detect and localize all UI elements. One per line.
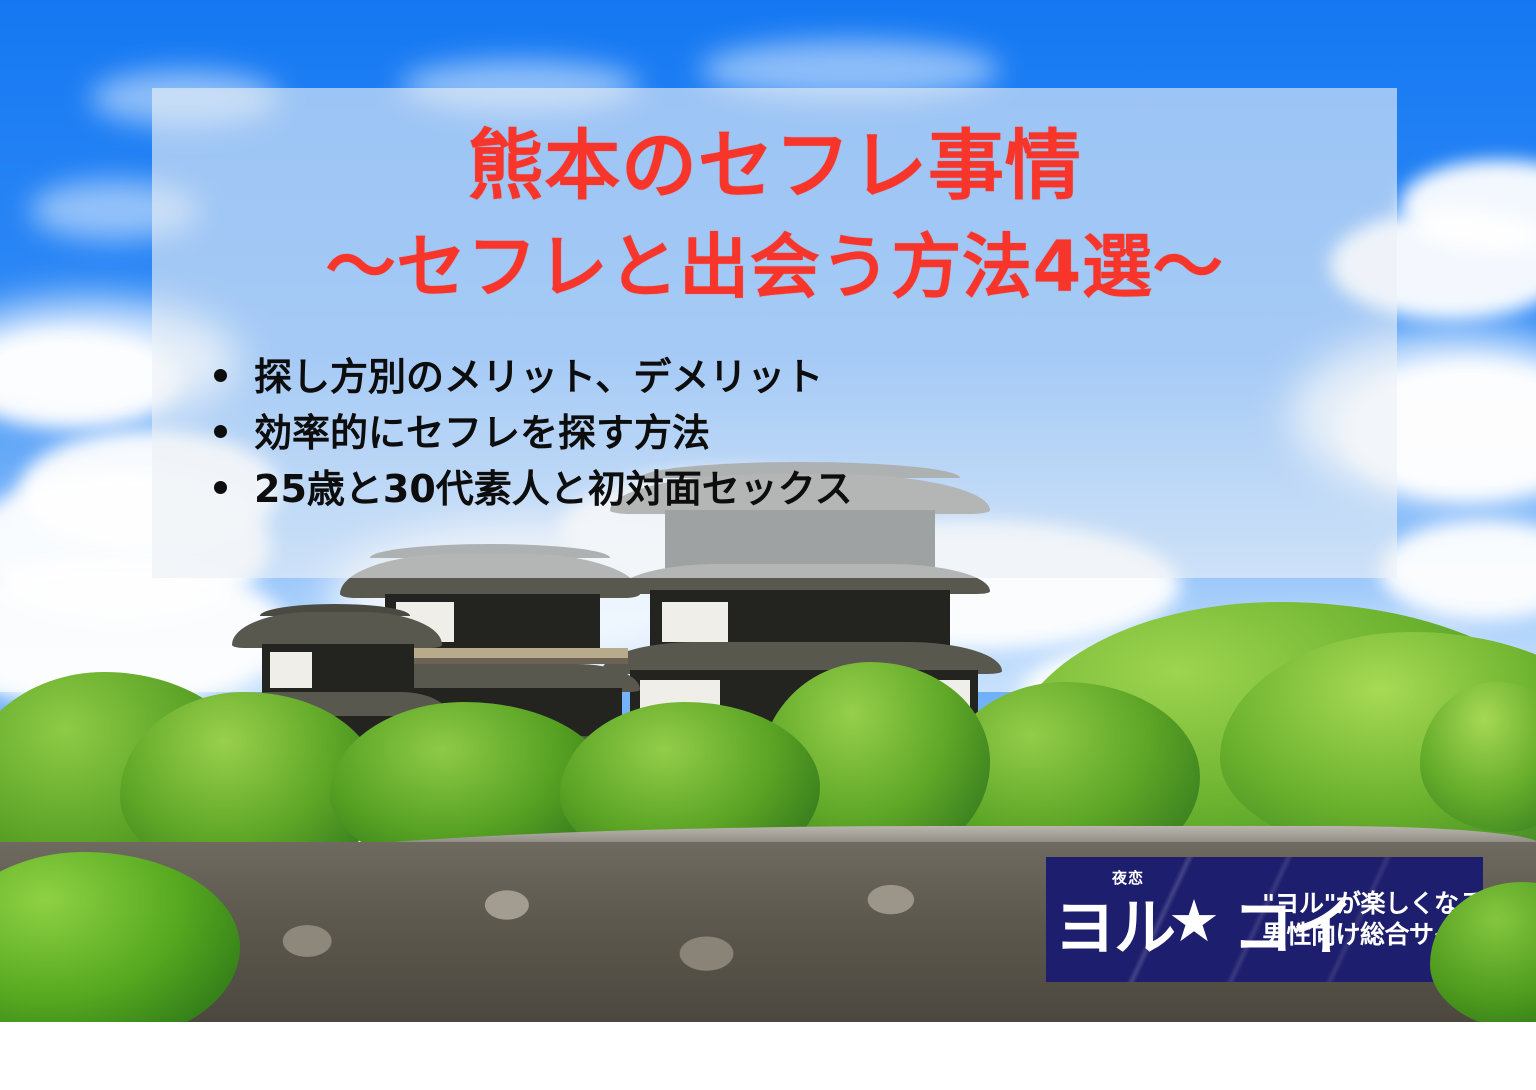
site-logo-badge[interactable]: 夜恋 ヨルコイ ★ "ヨル"が楽しくなる 男性向け総合サイト bbox=[1046, 857, 1483, 982]
list-item: 25歳と30代素人と初対面セックス bbox=[214, 470, 853, 510]
hero-image: 熊本のセフレ事情 〜セフレと出会う方法4選〜 探し方別のメリット、デメリット 効… bbox=[0, 0, 1536, 1090]
star-icon: ★ bbox=[1166, 895, 1222, 949]
bullet-dot-icon bbox=[214, 481, 227, 494]
list-item-label: 探し方別のメリット、デメリット bbox=[254, 358, 823, 398]
bullet-list: 探し方別のメリット、デメリット 効率的にセフレを探す方法 25歳と30代素人と初… bbox=[214, 358, 853, 510]
page-title-line1: 熊本のセフレ事情 bbox=[467, 128, 1081, 204]
logo-ruby-text: 夜恋 bbox=[1112, 871, 1144, 886]
bottom-white-band bbox=[0, 1022, 1536, 1090]
list-item-label: 効率的にセフレを探す方法 bbox=[254, 414, 710, 454]
list-item: 効率的にセフレを探す方法 bbox=[214, 414, 853, 454]
bullet-dot-icon bbox=[214, 369, 227, 382]
text-overlay-panel: 熊本のセフレ事情 〜セフレと出会う方法4選〜 探し方別のメリット、デメリット 効… bbox=[152, 88, 1397, 578]
page-title-line2: 〜セフレと出会う方法4選〜 bbox=[326, 232, 1224, 302]
bullet-dot-icon bbox=[214, 425, 227, 438]
list-item-label: 25歳と30代素人と初対面セックス bbox=[254, 470, 853, 510]
logo-wordmark: 夜恋 ヨルコイ ★ bbox=[1046, 857, 1256, 982]
list-item: 探し方別のメリット、デメリット bbox=[214, 358, 853, 398]
